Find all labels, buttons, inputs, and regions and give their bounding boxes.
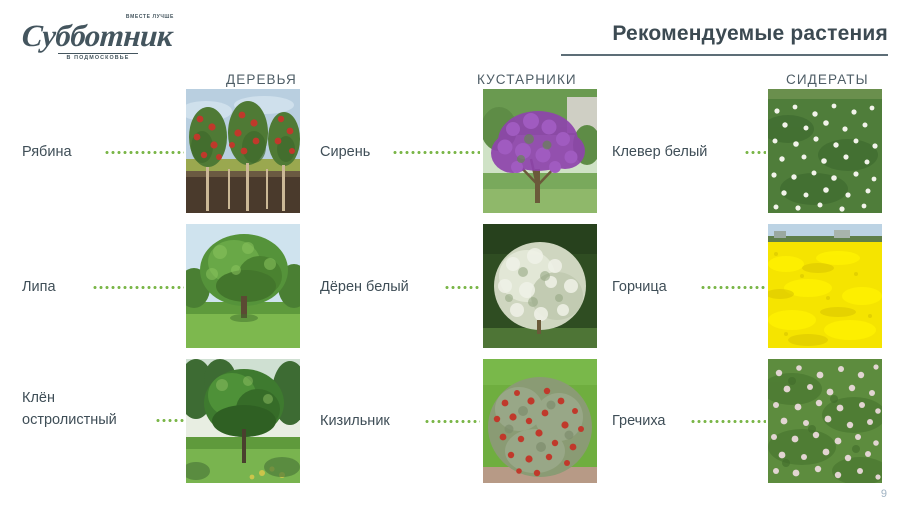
item-label-siren: Сирень [320,142,370,162]
white-dogwood-photo [483,224,597,348]
item-label-klever: Клевер белый [612,142,707,162]
column-header-shrubs: КУСТАРНИКИ [477,72,577,87]
connector-dots [700,286,766,289]
brand-name: Субботник [21,18,174,54]
connector-dots [744,151,766,154]
brand-divider [58,53,138,54]
item-label-klen-line2: остролистный [22,410,117,430]
item-label-klen-line1: Клён [22,388,55,408]
mustard-field-photo [768,224,882,348]
linden-tree-photo [186,224,300,348]
column-header-trees: ДЕРЕВЬЯ [226,72,297,87]
item-label-grechiha: Гречиха [612,411,666,431]
lilac-shrub-photo [483,89,597,213]
item-label-deren: Дёрен белый [320,277,409,297]
item-label-ryabina: Рябина [22,142,72,162]
brand-tagline-bottom: В ПОДМОСКОВЬЕ [58,55,138,61]
rowan-tree-photo [186,89,300,213]
item-label-kizilnik: Кизильник [320,411,390,431]
page-title: Рекомендуемые растения [612,22,888,46]
brand-logo: ВМЕСТЕ ЛУЧШЕ Субботник В ПОДМОСКОВЬЕ [22,14,182,60]
connector-dots [155,419,185,422]
white-clover-photo [768,89,882,213]
connector-dots [92,286,184,289]
connector-dots [690,420,766,423]
norway-maple-photo [186,359,300,483]
item-label-lipa: Липа [22,277,56,297]
column-header-siderat: СИДЕРАТЫ [786,72,869,87]
connector-dots [104,151,184,154]
slide: ВМЕСТЕ ЛУЧШЕ Субботник В ПОДМОСКОВЬЕ Рек… [0,0,910,512]
connector-dots [392,151,480,154]
title-underline [561,54,888,56]
connector-dots [424,420,480,423]
cotoneaster-photo [483,359,597,483]
page-number: 9 [881,488,887,500]
buckwheat-field-photo [768,359,882,483]
connector-dots [444,286,480,289]
item-label-gorchica: Горчица [612,277,667,297]
